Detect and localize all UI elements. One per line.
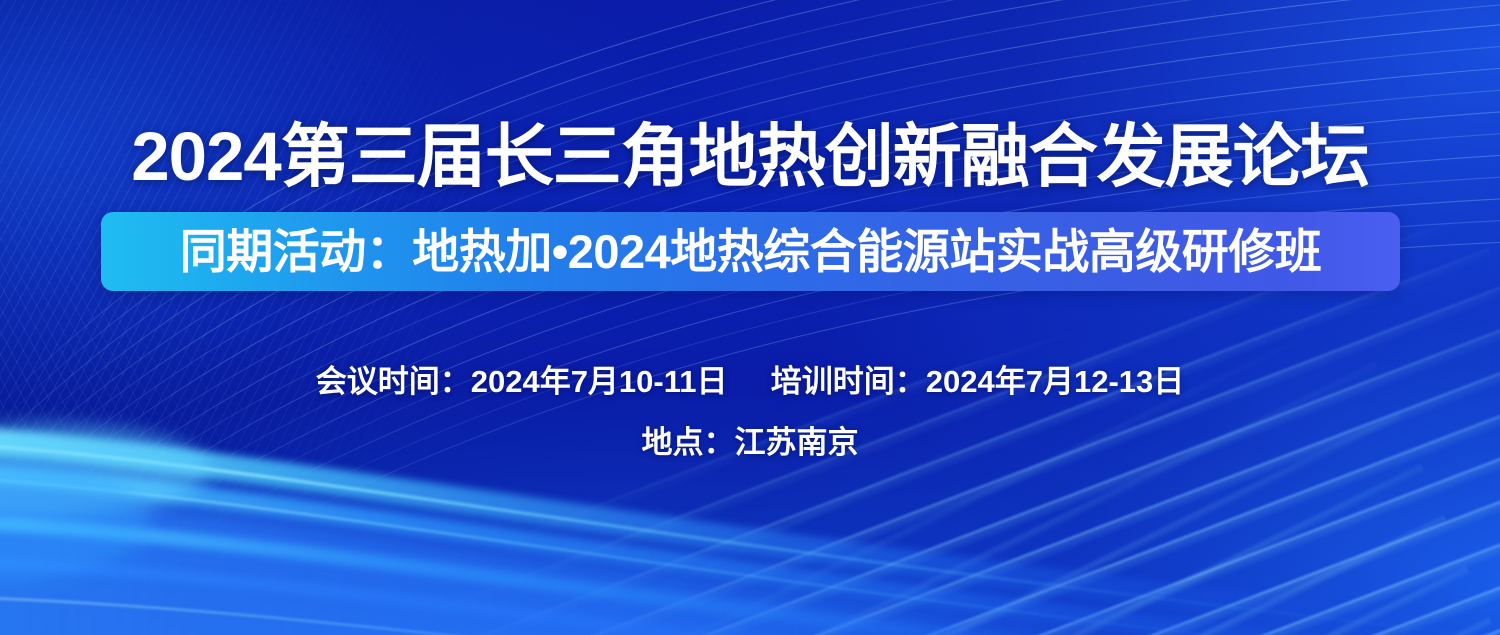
subtitle-text: 同期活动：地热加•2024地热综合能源站实战高级研修班 <box>180 228 1322 275</box>
event-schedule: 会议时间：2024年7月10-11日 培训时间：2024年7月12-13日 <box>0 366 1500 397</box>
subtitle-banner: 同期活动：地热加•2024地热综合能源站实战高级研修班 <box>101 212 1400 291</box>
page-title: 2024第三届长三角地热创新融合发展论坛 <box>0 122 1500 191</box>
event-location: 地点：江苏南京 <box>0 427 1500 458</box>
training-time: 培训时间：2024年7月12-13日 <box>771 364 1185 399</box>
location-text: 地点：江苏南京 <box>642 425 859 460</box>
meeting-time: 会议时间：2024年7月10-11日 <box>316 364 728 399</box>
event-banner: 2024第三届长三角地热创新融合发展论坛 同期活动：地热加•2024地热综合能源… <box>0 0 1500 635</box>
